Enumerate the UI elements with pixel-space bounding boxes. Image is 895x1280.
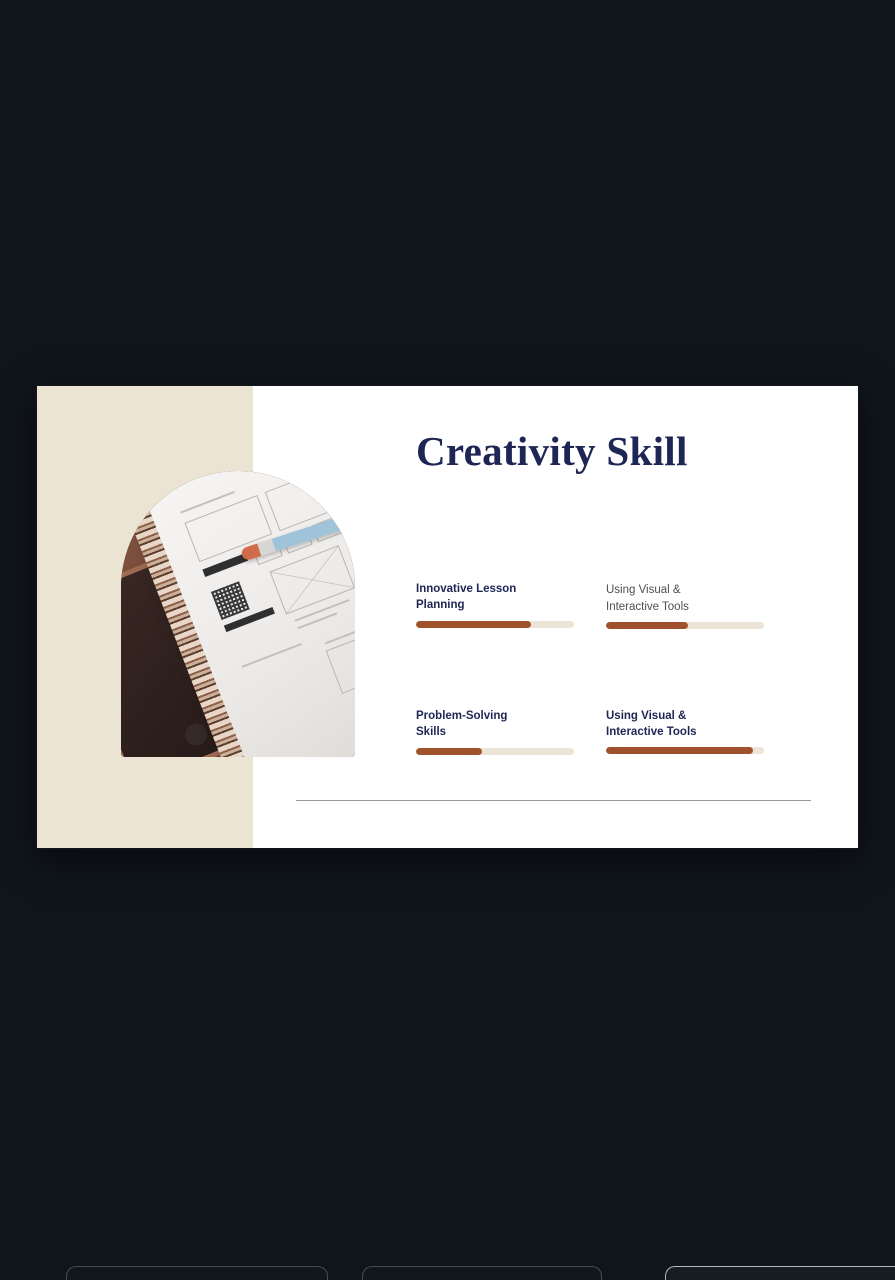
page-title: Creativity Skill <box>416 427 688 475</box>
horizontal-divider <box>296 800 811 801</box>
skill-item: Problem-Solving Skills <box>416 709 574 755</box>
skill-progress-track <box>416 621 574 628</box>
skill-label: Using Visual & Interactive Tools <box>606 582 764 615</box>
notebook-wireframe-sketch-photo <box>121 471 355 757</box>
skill-progress-track <box>606 622 764 629</box>
skill-progress-fill <box>606 747 753 754</box>
skill-label: Innovative Lesson Planning <box>416 582 574 613</box>
background-panel-center <box>362 1266 602 1280</box>
skill-item: Innovative Lesson Planning <box>416 582 574 628</box>
skill-label: Problem-Solving Skills <box>416 709 574 740</box>
skill-label: Using Visual & Interactive Tools <box>606 709 764 740</box>
presentation-slide[interactable]: Creativity Skill Innovative Lesson Plann… <box>37 386 858 848</box>
app-background: Creativity Skill Innovative Lesson Plann… <box>0 0 895 1280</box>
skill-item: Using Visual & Interactive Tools <box>606 582 764 629</box>
background-panel-right <box>665 1266 895 1280</box>
skill-progress-fill <box>416 748 482 755</box>
skill-item: Using Visual & Interactive Tools <box>606 709 764 754</box>
skill-progress-track <box>416 748 574 755</box>
skill-progress-fill <box>606 622 688 629</box>
skill-progress-fill <box>416 621 531 628</box>
skill-progress-track <box>606 747 764 754</box>
background-panel-left <box>66 1266 328 1280</box>
